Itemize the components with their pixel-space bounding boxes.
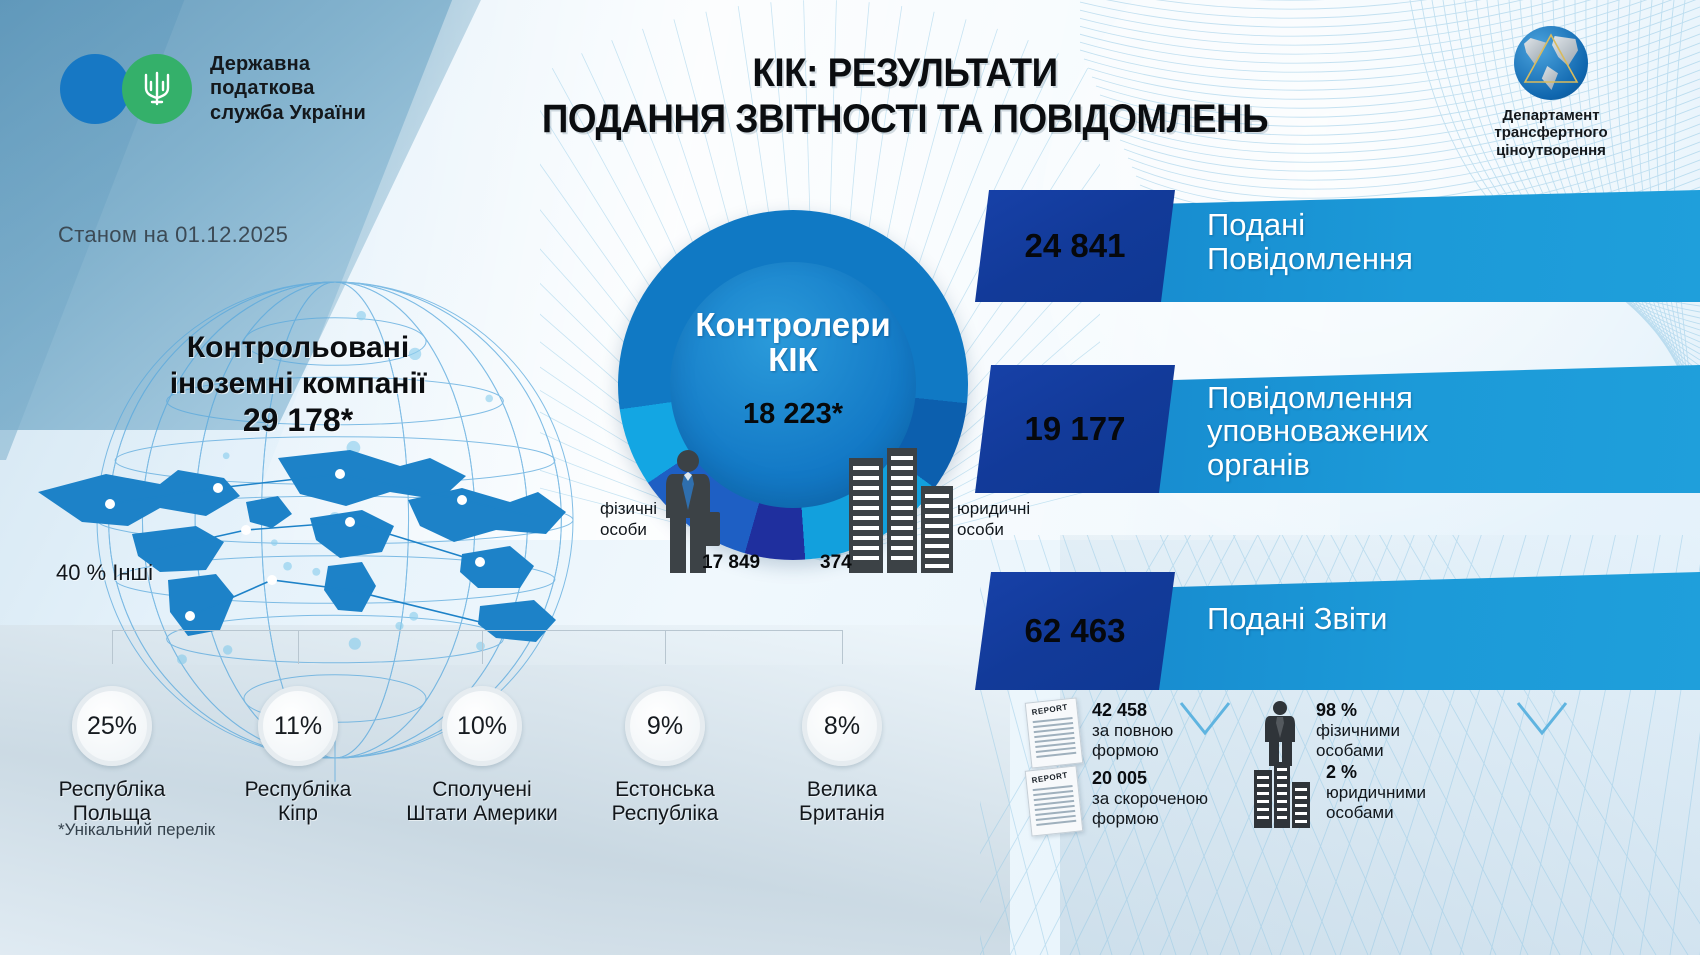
axis-tick xyxy=(112,630,113,664)
detail-text: за повною формою xyxy=(1092,721,1173,761)
detail-value: 20 005 xyxy=(1092,768,1208,789)
country-name: Республіка Кіпр xyxy=(218,778,378,827)
donut-title: Контролери КІК xyxy=(695,308,890,378)
detail-text: фізичними особами xyxy=(1316,721,1400,761)
legal-entities-label: юридичні особи xyxy=(957,498,1030,541)
banner-label: Подані Звіти xyxy=(1207,602,1387,636)
cfc-title: Контрольовані іноземні компанії xyxy=(18,330,578,402)
chart-axis-line xyxy=(112,630,842,631)
infographic-canvas: Державна податкова служба України КІК: Р… xyxy=(0,0,1700,955)
detail-full-form: REPORT 42 458 за повною формою xyxy=(1028,700,1173,766)
logo-tryzub-circle-icon xyxy=(122,54,192,124)
department-logo: Департамент трансфертного ціноутворення xyxy=(1436,26,1666,159)
individuals-value: 17 849 xyxy=(702,552,760,574)
globe-triangle-overlay-icon xyxy=(1514,26,1588,100)
country-share-chart: 25% Республіка Польща 11% Республіка Кіп… xyxy=(0,630,940,860)
chevron-down-icon xyxy=(1178,700,1232,736)
report-document-icon: REPORT xyxy=(1025,765,1084,836)
country-name: Республіка Польща xyxy=(32,778,192,827)
banner-number-box: 62 463 xyxy=(975,572,1175,690)
axis-tick xyxy=(482,630,483,664)
globe-icon xyxy=(1514,26,1588,100)
cfc-value: 29 178* xyxy=(18,402,578,439)
detail-value: 2 % xyxy=(1326,762,1426,783)
report-document-icon: REPORT xyxy=(1025,697,1084,768)
country-marker: 25% Республіка Польща xyxy=(32,686,192,827)
banner-number-box: 24 841 xyxy=(975,190,1175,302)
country-percent-badge: 11% xyxy=(258,686,338,766)
detail-value: 42 458 xyxy=(1092,700,1173,721)
detail-by-individuals: 98 % фізичними особами xyxy=(1258,700,1400,766)
banner-value: 19 177 xyxy=(1025,410,1126,448)
individuals-label: фізичні особи xyxy=(600,498,657,541)
country-name: Сполучені Штати Америки xyxy=(402,778,562,827)
other-share-label: 40 % Інші xyxy=(56,560,153,586)
country-marker: 8% Велика Британія xyxy=(762,686,922,827)
logo-blue-circle-icon xyxy=(60,54,130,124)
donut-value: 18 223* xyxy=(743,398,843,431)
banner-label: Подані Повідомлення xyxy=(1207,208,1413,276)
buildings-icon xyxy=(845,448,957,573)
detail-by-legal-entities: 2 % юридичними особами xyxy=(1252,762,1426,828)
country-percent-badge: 25% xyxy=(72,686,152,766)
person-icon xyxy=(1258,700,1304,766)
banner-value: 62 463 xyxy=(1025,612,1126,650)
detail-text: юридичними особами xyxy=(1326,783,1426,823)
axis-tick xyxy=(665,630,666,664)
country-marker: 10% Сполучені Штати Америки xyxy=(402,686,562,827)
detail-short-form: REPORT 20 005 за скороченою формою xyxy=(1028,768,1208,834)
detail-text: за скороченою формою xyxy=(1092,789,1208,829)
legal-entities-value: 374 xyxy=(820,552,852,574)
country-name: Велика Британія xyxy=(762,778,922,827)
tryzub-icon xyxy=(139,68,175,110)
country-marker: 9% Естонська Республіка xyxy=(585,686,745,827)
agency-logo: Державна податкова служба України xyxy=(60,52,366,125)
country-name: Естонська Республіка xyxy=(585,778,745,827)
country-marker: 11% Республіка Кіпр xyxy=(218,686,378,827)
country-percent-badge: 9% xyxy=(625,686,705,766)
country-percent-badge: 10% xyxy=(442,686,522,766)
banner-authority-notifications: 19 177 Повідомлення уповноважених органі… xyxy=(975,365,1700,493)
as-of-date: Станом на 01.12.2025 xyxy=(58,222,288,248)
banner-number-box: 19 177 xyxy=(975,365,1175,493)
department-name: Департамент трансфертного ціноутворення xyxy=(1436,107,1666,159)
agency-name: Державна податкова служба України xyxy=(210,52,366,125)
axis-tick xyxy=(842,630,843,664)
chevron-down-icon xyxy=(1515,700,1569,736)
banner-value: 24 841 xyxy=(1025,227,1126,265)
page-title: КІК: РЕЗУЛЬТАТИ ПОДАННЯ ЗВІТНОСТІ ТА ПОВ… xyxy=(523,50,1287,143)
banner-submitted-notifications: 24 841 Подані Повідомлення xyxy=(975,190,1700,302)
axis-tick xyxy=(298,630,299,664)
country-percent-badge: 8% xyxy=(802,686,882,766)
detail-value: 98 % xyxy=(1316,700,1400,721)
banner-submitted-reports: 62 463 Подані Звіти xyxy=(975,572,1700,690)
buildings-icon xyxy=(1252,762,1314,828)
banner-label: Повідомлення уповноважених органів xyxy=(1207,381,1429,481)
